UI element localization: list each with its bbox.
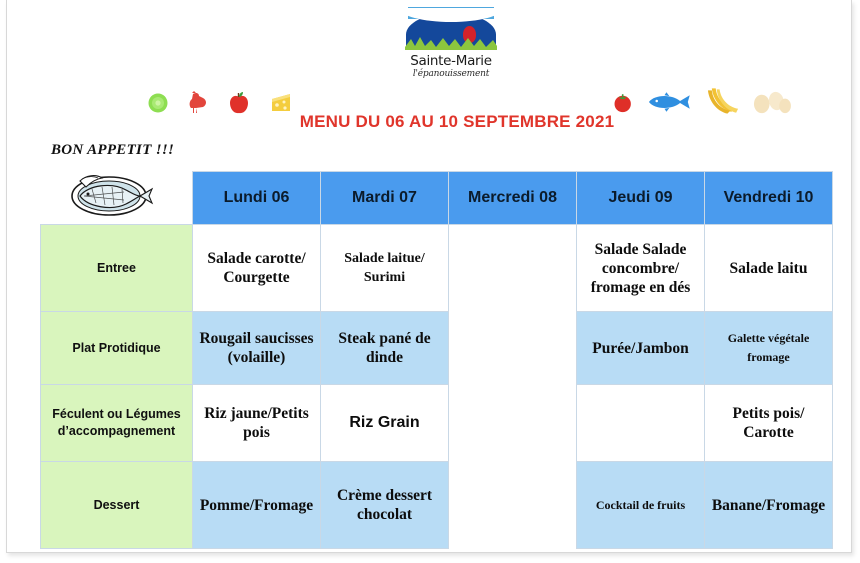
- row-label-plat-protidique: Plat Protidique: [41, 312, 193, 385]
- eggs-icon: [753, 89, 792, 115]
- day-header-lundi: Lundi 06: [193, 172, 321, 225]
- fish-icon: [647, 91, 692, 113]
- cell-dessert-mercredi: [449, 462, 577, 549]
- day-header-vendredi: Vendredi 10: [705, 172, 833, 225]
- day-header-mardi: Mardi 07: [321, 172, 449, 225]
- logo-grass-icon: [405, 34, 497, 50]
- page-title: MENU DU 06 AU 10 SEPTEMBRE 2021: [297, 112, 617, 132]
- logo-emblem: [403, 4, 499, 56]
- logo-tagline-text: l'épanouissement: [403, 69, 499, 79]
- cell-plat-mercredi: [449, 312, 577, 385]
- cell-plat-vendredi: Galette végétale fromage: [705, 312, 833, 385]
- table-row-dessert: Dessert Pomme/Fromage Crème dessert choc…: [41, 462, 833, 549]
- cell-dessert-mardi: Crème dessert chocolat: [321, 462, 449, 549]
- table-header-row: Lundi 06 Mardi 07 Mercredi 08 Jeudi 09 V…: [41, 172, 833, 225]
- banana-icon: [706, 87, 739, 117]
- table-row-feculent: Féculent ou Légumes d’accompagnement Riz…: [41, 385, 833, 462]
- cell-entree-vendredi: Salade laitu: [705, 225, 833, 312]
- apple-icon: [227, 91, 251, 115]
- lettuce-icon: [147, 92, 169, 114]
- menu-document-page: Sainte-Marie l'épanouissement: [6, 0, 852, 553]
- row-label-feculent: Féculent ou Légumes d’accompagnement: [41, 385, 193, 462]
- cell-entree-mercredi: [449, 225, 577, 312]
- sainte-marie-logo: Sainte-Marie l'épanouissement: [403, 4, 499, 82]
- cell-entree-jeudi: Salade Salade concombre/ fromage en dés: [577, 225, 705, 312]
- food-icons-left: [147, 86, 307, 120]
- chicken-icon: [187, 91, 209, 115]
- logo-name-text: Sainte-Marie: [403, 54, 499, 69]
- row-label-dessert: Dessert: [41, 462, 193, 549]
- cell-dessert-lundi: Pomme/Fromage: [193, 462, 321, 549]
- weekly-menu-table: Lundi 06 Mardi 07 Mercredi 08 Jeudi 09 V…: [40, 171, 833, 549]
- cell-feculent-mardi: Riz Grain: [321, 385, 449, 462]
- cell-entree-mardi: Salade laitue/ Surimi: [321, 225, 449, 312]
- tomato-icon: [612, 91, 633, 113]
- cell-dessert-vendredi: Banane/Fromage: [705, 462, 833, 549]
- day-header-jeudi: Jeudi 09: [577, 172, 705, 225]
- bon-appetit-text: BON APPETIT !!!: [51, 142, 174, 159]
- row-label-entree: Entree: [41, 225, 193, 312]
- cell-feculent-mercredi: [449, 385, 577, 462]
- cell-feculent-jeudi: [577, 385, 705, 462]
- cell-plat-jeudi: Purée/Jambon: [577, 312, 705, 385]
- cell-entree-lundi: Salade carotte/ Courgette: [193, 225, 321, 312]
- cell-feculent-lundi: Riz jaune/Petits pois: [193, 385, 321, 462]
- day-header-mercredi: Mercredi 08: [449, 172, 577, 225]
- cell-dessert-jeudi: Cocktail de fruits: [577, 462, 705, 549]
- cell-plat-lundi: Rougail saucisses (volaille): [193, 312, 321, 385]
- food-icons-right: [612, 84, 792, 120]
- header-corner-blank: [41, 172, 193, 225]
- table-row-entree: Entree Salade carotte/ Courgette Salade …: [41, 225, 833, 312]
- table-row-plat-protidique: Plat Protidique Rougail saucisses (volai…: [41, 312, 833, 385]
- cell-feculent-vendredi: Petits pois/ Carotte: [705, 385, 833, 462]
- cell-plat-mardi: Steak pané de dinde: [321, 312, 449, 385]
- cheese-icon: [269, 92, 293, 114]
